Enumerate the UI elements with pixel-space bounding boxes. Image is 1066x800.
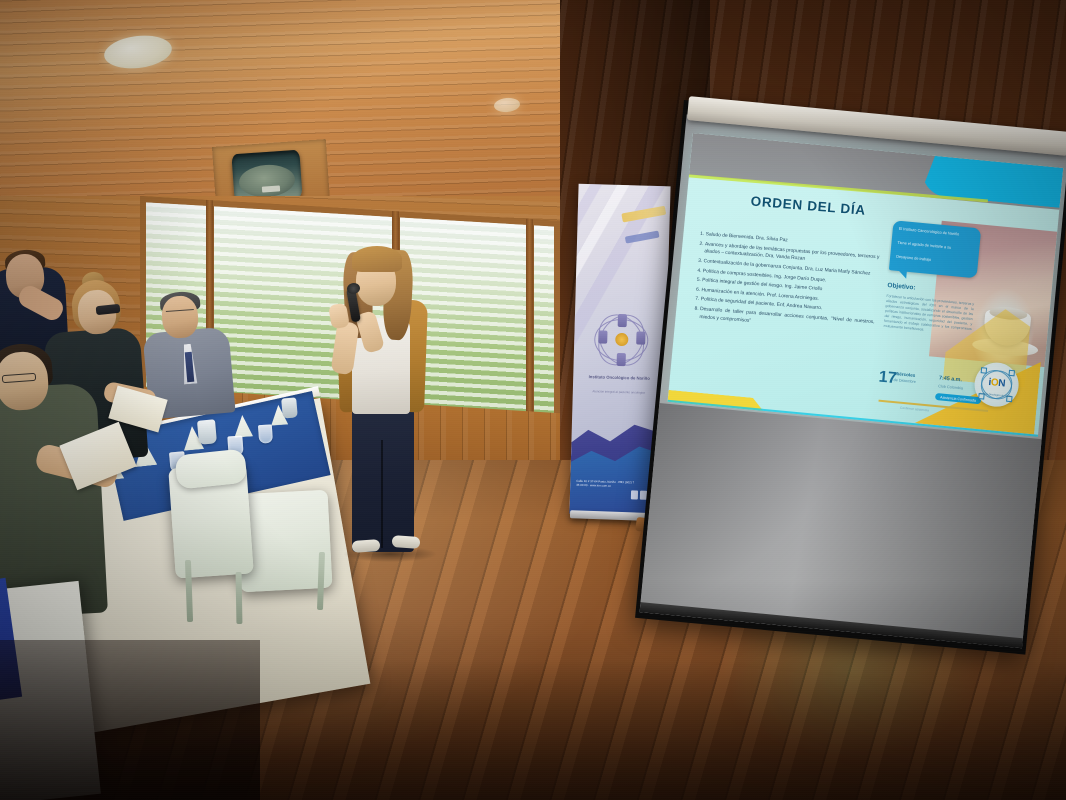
banner-footer-contact: Calle 16 # 37-64 Pasto, Nariño · PBX (60… [576,480,636,490]
slide-sub-note: Confirmar asistencia [900,406,929,413]
water-pitcher [197,419,217,444]
event-time: 7:45 a.m. [939,375,963,383]
certification-icon [631,490,638,499]
bubble-line: Tiene el agrado de invitarle a su [897,241,975,253]
bubble-line: El Instituto Cancerológico de Nariño [899,227,977,239]
slide-title: ORDEN DEL DÍA [750,194,866,218]
invitation-speech-bubble: El Instituto Cancerológico de Nariño Tie… [889,220,981,278]
banner-atom-logo-icon [592,312,651,368]
projector-screen: ORDEN DEL DÍA Saludo de Bienvenida. Dra.… [635,100,1066,655]
event-month: de Diciembre [893,378,916,384]
ion-letter-n: N [998,378,1006,390]
foreground-shadow [0,640,260,800]
projection-surface: ORDEN DEL DÍA Saludo de Bienvenida. Dra.… [640,114,1066,648]
atom-node-icon [617,353,626,366]
objective-label: Objetivo: [887,282,916,292]
atom-node-icon [618,314,627,327]
window-mullion [526,219,533,424]
presenter-trousers [352,404,414,552]
agenda-list: Saludo de Bienvenida. Dra. Silvia Paz Av… [692,231,880,337]
chair-leg [236,572,243,624]
event-day-name: Miércoles [894,371,916,378]
bubble-line: Desayuno de trabajo [896,255,974,267]
drinking-glass [258,424,273,443]
atom-node-icon [636,331,645,344]
presenter-shoe [392,535,421,549]
event-place: Club Colombia [938,384,963,390]
photo-scene: ORDEN DEL DÍA Saludo de Bienvenida. Dra.… [0,0,1066,800]
speaker-badge [262,185,280,192]
objective-text: Fortalecer la articulación con los prove… [883,294,974,338]
window-pane [534,225,554,419]
presenter-shoe [352,539,381,553]
atom-node-icon [598,330,607,343]
presentation-slide: ORDEN DEL DÍA Saludo de Bienvenida. Dra.… [668,133,1064,437]
banner-tagline: Atención integral al paciente oncológico [583,390,655,396]
slide-cyan-accent [920,155,1063,208]
water-pitcher [281,397,298,418]
presenter-trouser-seam [381,440,383,548]
slide-right-panel: El Instituto Cancerológico de Nariño Tie… [873,210,1058,437]
banner-organization-name: Instituto Oncológico de Nariño [583,374,655,382]
presenter-hair-top [352,246,402,272]
